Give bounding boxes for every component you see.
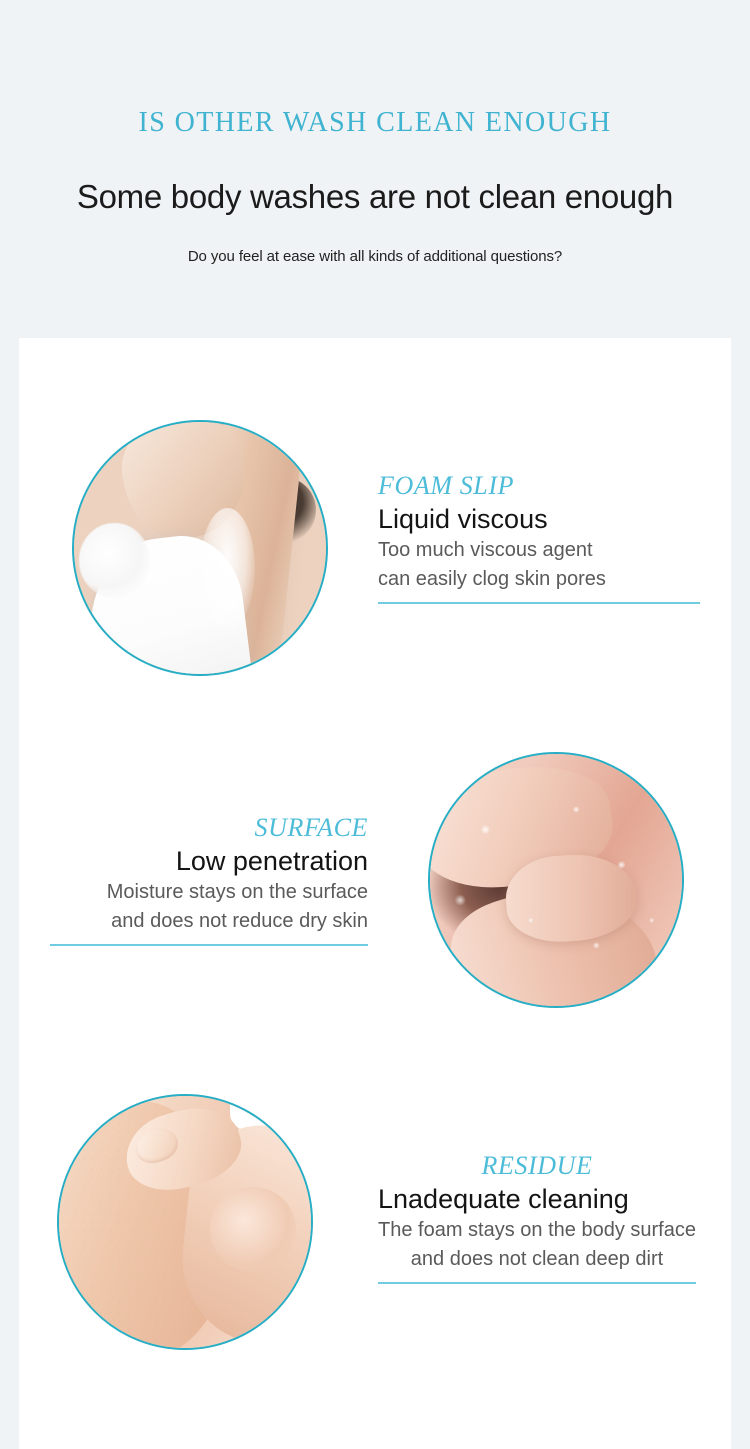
photo-bubbles-overlay [430,754,682,1006]
feature-image-foam-slip [72,420,328,676]
feature-body-line: The foam stays on the body surface [378,1216,696,1244]
page-root: IS OTHER WASH CLEAN ENOUGH Some body was… [0,0,750,1449]
photo-clip [430,754,682,1006]
feature-body-line: can easily clog skin pores [378,565,700,593]
feature-divider [378,1282,696,1284]
feature-image-residue [57,1094,313,1350]
feature-block-surface: SURFACE Low penetration Moisture stays o… [50,814,368,946]
feature-body-line: and does not clean deep dirt [378,1245,696,1273]
feature-label: RESIDUE [378,1152,696,1181]
page-title: Some body washes are not clean enough [0,178,750,216]
feature-title: Low penetration [50,845,368,879]
photo-clip [59,1096,311,1348]
photo-knuckle-shape [210,1187,296,1273]
feature-body-line: Too much viscous agent [378,536,700,564]
feature-block-foam-slip: FOAM SLIP Liquid viscous Too much viscou… [378,472,700,604]
feature-divider [50,944,368,946]
photo-foam-left [79,523,150,599]
feature-divider [378,602,700,604]
feature-image-surface [428,752,684,1008]
feature-label: FOAM SLIP [378,472,700,501]
photo-foam-right [200,508,255,629]
page-header: IS OTHER WASH CLEAN ENOUGH Some body was… [0,0,750,338]
page-subtitle: Do you feel at ease with all kinds of ad… [0,248,750,265]
photo-clip [74,422,326,674]
feature-title: Lnadequate cleaning [378,1183,696,1217]
feature-body-line: Moisture stays on the surface [50,878,368,906]
feature-title: Liquid viscous [378,503,700,537]
eyebrow-heading: IS OTHER WASH CLEAN ENOUGH [0,107,750,139]
feature-block-residue: RESIDUE Lnadequate cleaning The foam sta… [378,1152,696,1284]
feature-label: SURFACE [50,814,368,843]
feature-body-line: and does not reduce dry skin [50,907,368,935]
